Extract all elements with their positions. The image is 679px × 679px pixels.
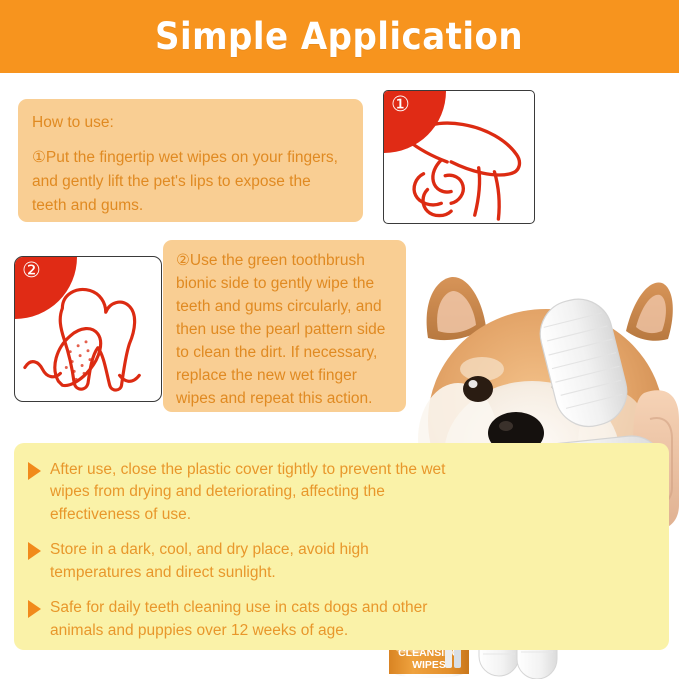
note-item: Store in a dark, cool, and dry place, av… (28, 539, 448, 584)
illustration-box-step-2: ② (14, 256, 162, 402)
step-1-text: ①Put the fingertip wet wipes on your fin… (32, 146, 349, 218)
usage-notes-box: After use, close the plastic cover tight… (14, 443, 669, 650)
step-2-box: ②Use the green toothbrush bionic side to… (163, 240, 406, 412)
note-text: After use, close the plastic cover tight… (50, 459, 448, 526)
step-badge-2-number: ② (22, 260, 41, 281)
triangle-bullet-icon (28, 542, 41, 560)
how-to-use-box: How to use: ①Put the fingertip wet wipes… (18, 99, 363, 222)
how-to-use-label: How to use: (32, 111, 349, 135)
header-banner: Simple Application (0, 0, 679, 73)
note-item: Safe for daily teeth cleaning use in cat… (28, 597, 448, 642)
triangle-bullet-icon (28, 600, 41, 618)
page-title: Simple Application (155, 15, 523, 58)
step-badge-1-number: ① (391, 94, 410, 115)
illustration-box-step-1: ① (383, 90, 535, 224)
note-item: After use, close the plastic cover tight… (28, 459, 448, 526)
triangle-bullet-icon (28, 462, 41, 480)
note-text: Store in a dark, cool, and dry place, av… (50, 539, 448, 584)
product-name-line3: WIPES (412, 659, 446, 671)
step-2-text: ②Use the green toothbrush bionic side to… (176, 250, 393, 411)
note-text: Safe for daily teeth cleaning use in cat… (50, 597, 448, 642)
infographic-page: Simple Application (0, 0, 679, 679)
